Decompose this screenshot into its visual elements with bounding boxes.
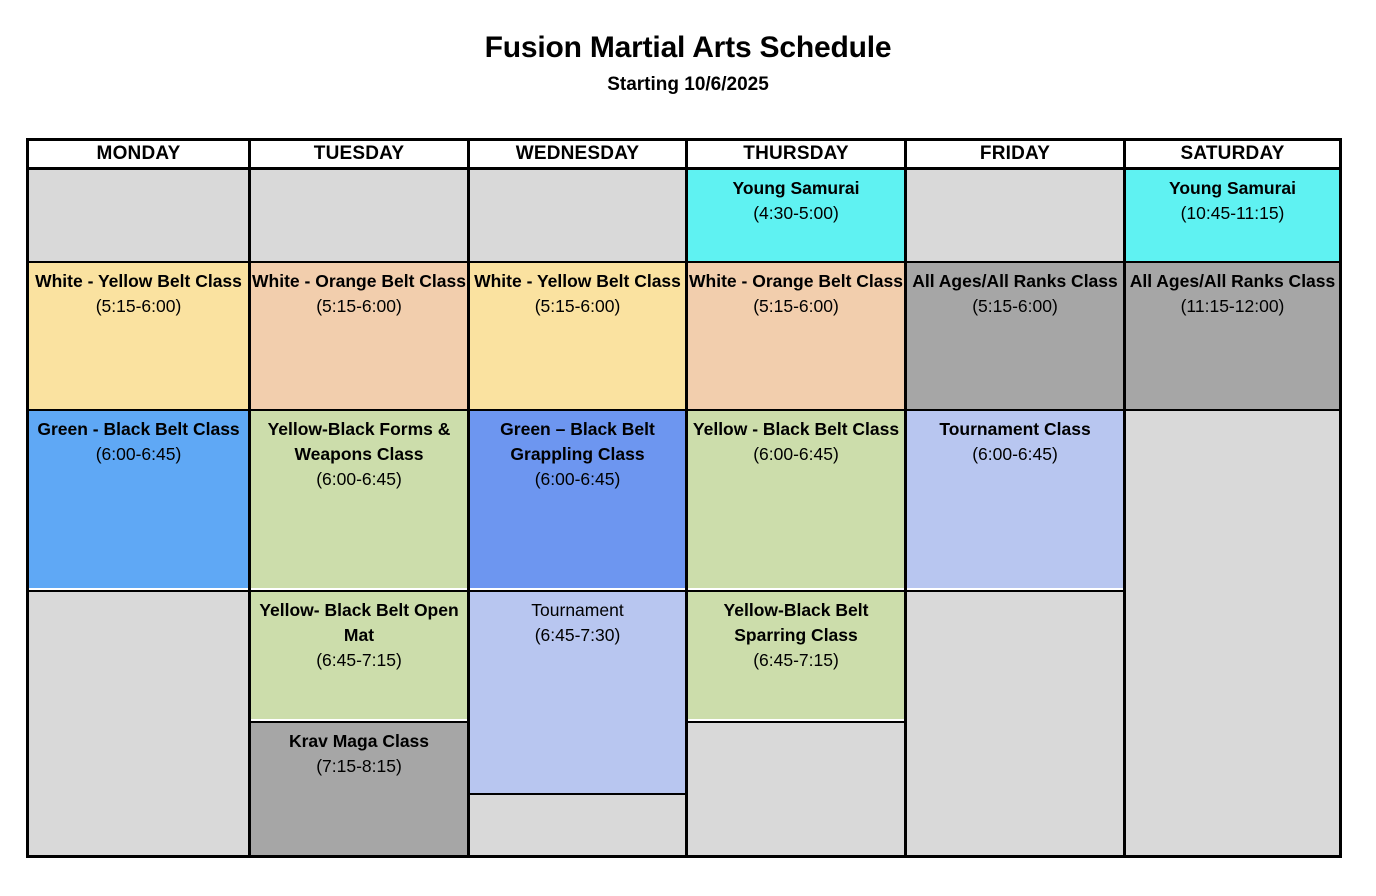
table-header-row: MONDAY TUESDAY WEDNESDAY THURSDAY FRIDAY… [29,141,1339,170]
cell-monday-empty[interactable] [29,590,248,855]
cell-time: (11:15-12:00) [1126,294,1339,319]
page-title: Fusion Martial Arts Schedule [0,30,1376,66]
column-header-friday: FRIDAY [907,141,1123,167]
cell-tuesday-row1[interactable] [251,170,467,261]
cell-title: White - Yellow Belt Class [29,269,248,294]
cell-monday-green-black-belt[interactable]: Green - Black Belt Class (6:00-6:45) [29,409,248,588]
cell-wednesday-empty[interactable] [470,793,685,855]
cell-title: Green – Black Belt Grappling Class [470,417,685,467]
cell-time: (5:15-6:00) [688,294,904,319]
cell-time: (5:15-6:00) [251,294,467,319]
cell-time: (5:15-6:00) [470,294,685,319]
column-divider-2 [467,141,470,855]
title-block: Fusion Martial Arts Schedule Starting 10… [0,30,1376,98]
column-divider-1 [248,141,251,855]
cell-title: Tournament [470,598,685,623]
cell-thursday-young-samurai[interactable]: Young Samurai (4:30-5:00) [688,170,904,261]
cell-thursday-sparring[interactable]: Yellow-Black Belt Sparring Class (6:45-7… [688,590,904,719]
cell-title: All Ages/All Ranks Class [1126,269,1339,294]
cell-thursday-white-orange-belt[interactable]: White - Orange Belt Class (5:15-6:00) [688,261,904,409]
cell-time: (6:00-6:45) [251,467,467,492]
cell-title: Krav Maga Class [251,729,467,754]
cell-time: (4:30-5:00) [688,201,904,226]
cell-saturday-empty[interactable] [1126,409,1339,855]
cell-wednesday-grappling[interactable]: Green – Black Belt Grappling Class (6:00… [470,409,685,588]
column-header-saturday: SATURDAY [1126,141,1339,167]
cell-title: White - Orange Belt Class [688,269,904,294]
schedule-page: Fusion Martial Arts Schedule Starting 10… [0,0,1376,896]
cell-monday-white-yellow-belt[interactable]: White - Yellow Belt Class (5:15-6:00) [29,261,248,409]
cell-time: (6:45-7:15) [688,648,904,673]
cell-time: (6:00-6:45) [29,442,248,467]
cell-title: White - Yellow Belt Class [470,269,685,294]
cell-time: (10:45-11:15) [1126,201,1339,226]
column-divider-5 [1123,141,1126,855]
column-header-thursday: THURSDAY [688,141,904,167]
cell-friday-all-ages-all-ranks[interactable]: All Ages/All Ranks Class (5:15-6:00) [907,261,1123,409]
cell-title: White - Orange Belt Class [251,269,467,294]
cell-time: (7:15-8:15) [251,754,467,779]
cell-tuesday-white-orange-belt[interactable]: White - Orange Belt Class (5:15-6:00) [251,261,467,409]
cell-time: (6:45-7:15) [251,648,467,673]
cell-tuesday-open-mat[interactable]: Yellow- Black Belt Open Mat (6:45-7:15) [251,590,467,719]
cell-title: Yellow - Black Belt Class [688,417,904,442]
cell-time: (5:15-6:00) [29,294,248,319]
page-subtitle: Starting 10/6/2025 [0,72,1376,98]
cell-title: Yellow-Black Forms & Weapons Class [251,417,467,467]
cell-title: Young Samurai [688,176,904,201]
column-divider-3 [685,141,688,855]
cell-time: (6:45-7:30) [470,623,685,648]
cell-wednesday-row1[interactable] [470,170,685,261]
cell-title: Young Samurai [1126,176,1339,201]
cell-time: (6:00-6:45) [688,442,904,467]
cell-wednesday-white-yellow-belt[interactable]: White - Yellow Belt Class (5:15-6:00) [470,261,685,409]
column-divider-4 [904,141,907,855]
cell-title: Yellow-Black Belt Sparring Class [688,598,904,648]
cell-tuesday-krav-maga[interactable]: Krav Maga Class (7:15-8:15) [251,721,467,855]
cell-thursday-yellow-black-belt[interactable]: Yellow - Black Belt Class (6:00-6:45) [688,409,904,588]
cell-saturday-young-samurai[interactable]: Young Samurai (10:45-11:15) [1126,170,1339,261]
column-header-tuesday: TUESDAY [251,141,467,167]
cell-wednesday-tournament[interactable]: Tournament (6:45-7:30) [470,590,685,793]
cell-friday-empty[interactable] [907,590,1123,855]
cell-title: Green - Black Belt Class [29,417,248,442]
schedule-table: MONDAY TUESDAY WEDNESDAY THURSDAY FRIDAY… [26,138,1342,858]
cell-title: Yellow- Black Belt Open Mat [251,598,467,648]
cell-time: (5:15-6:00) [907,294,1123,319]
column-header-wednesday: WEDNESDAY [470,141,685,167]
cell-time: (6:00-6:45) [907,442,1123,467]
cell-thursday-empty[interactable] [688,721,904,855]
column-header-monday: MONDAY [29,141,248,167]
cell-friday-tournament-class[interactable]: Tournament Class (6:00-6:45) [907,409,1123,588]
cell-tuesday-forms-weapons[interactable]: Yellow-Black Forms & Weapons Class (6:00… [251,409,467,588]
cell-saturday-all-ages-all-ranks[interactable]: All Ages/All Ranks Class (11:15-12:00) [1126,261,1339,409]
cell-friday-row1[interactable] [907,170,1123,261]
cell-monday-row1[interactable] [29,170,248,261]
cell-time: (6:00-6:45) [470,467,685,492]
cell-title: All Ages/All Ranks Class [907,269,1123,294]
cell-title: Tournament Class [907,417,1123,442]
